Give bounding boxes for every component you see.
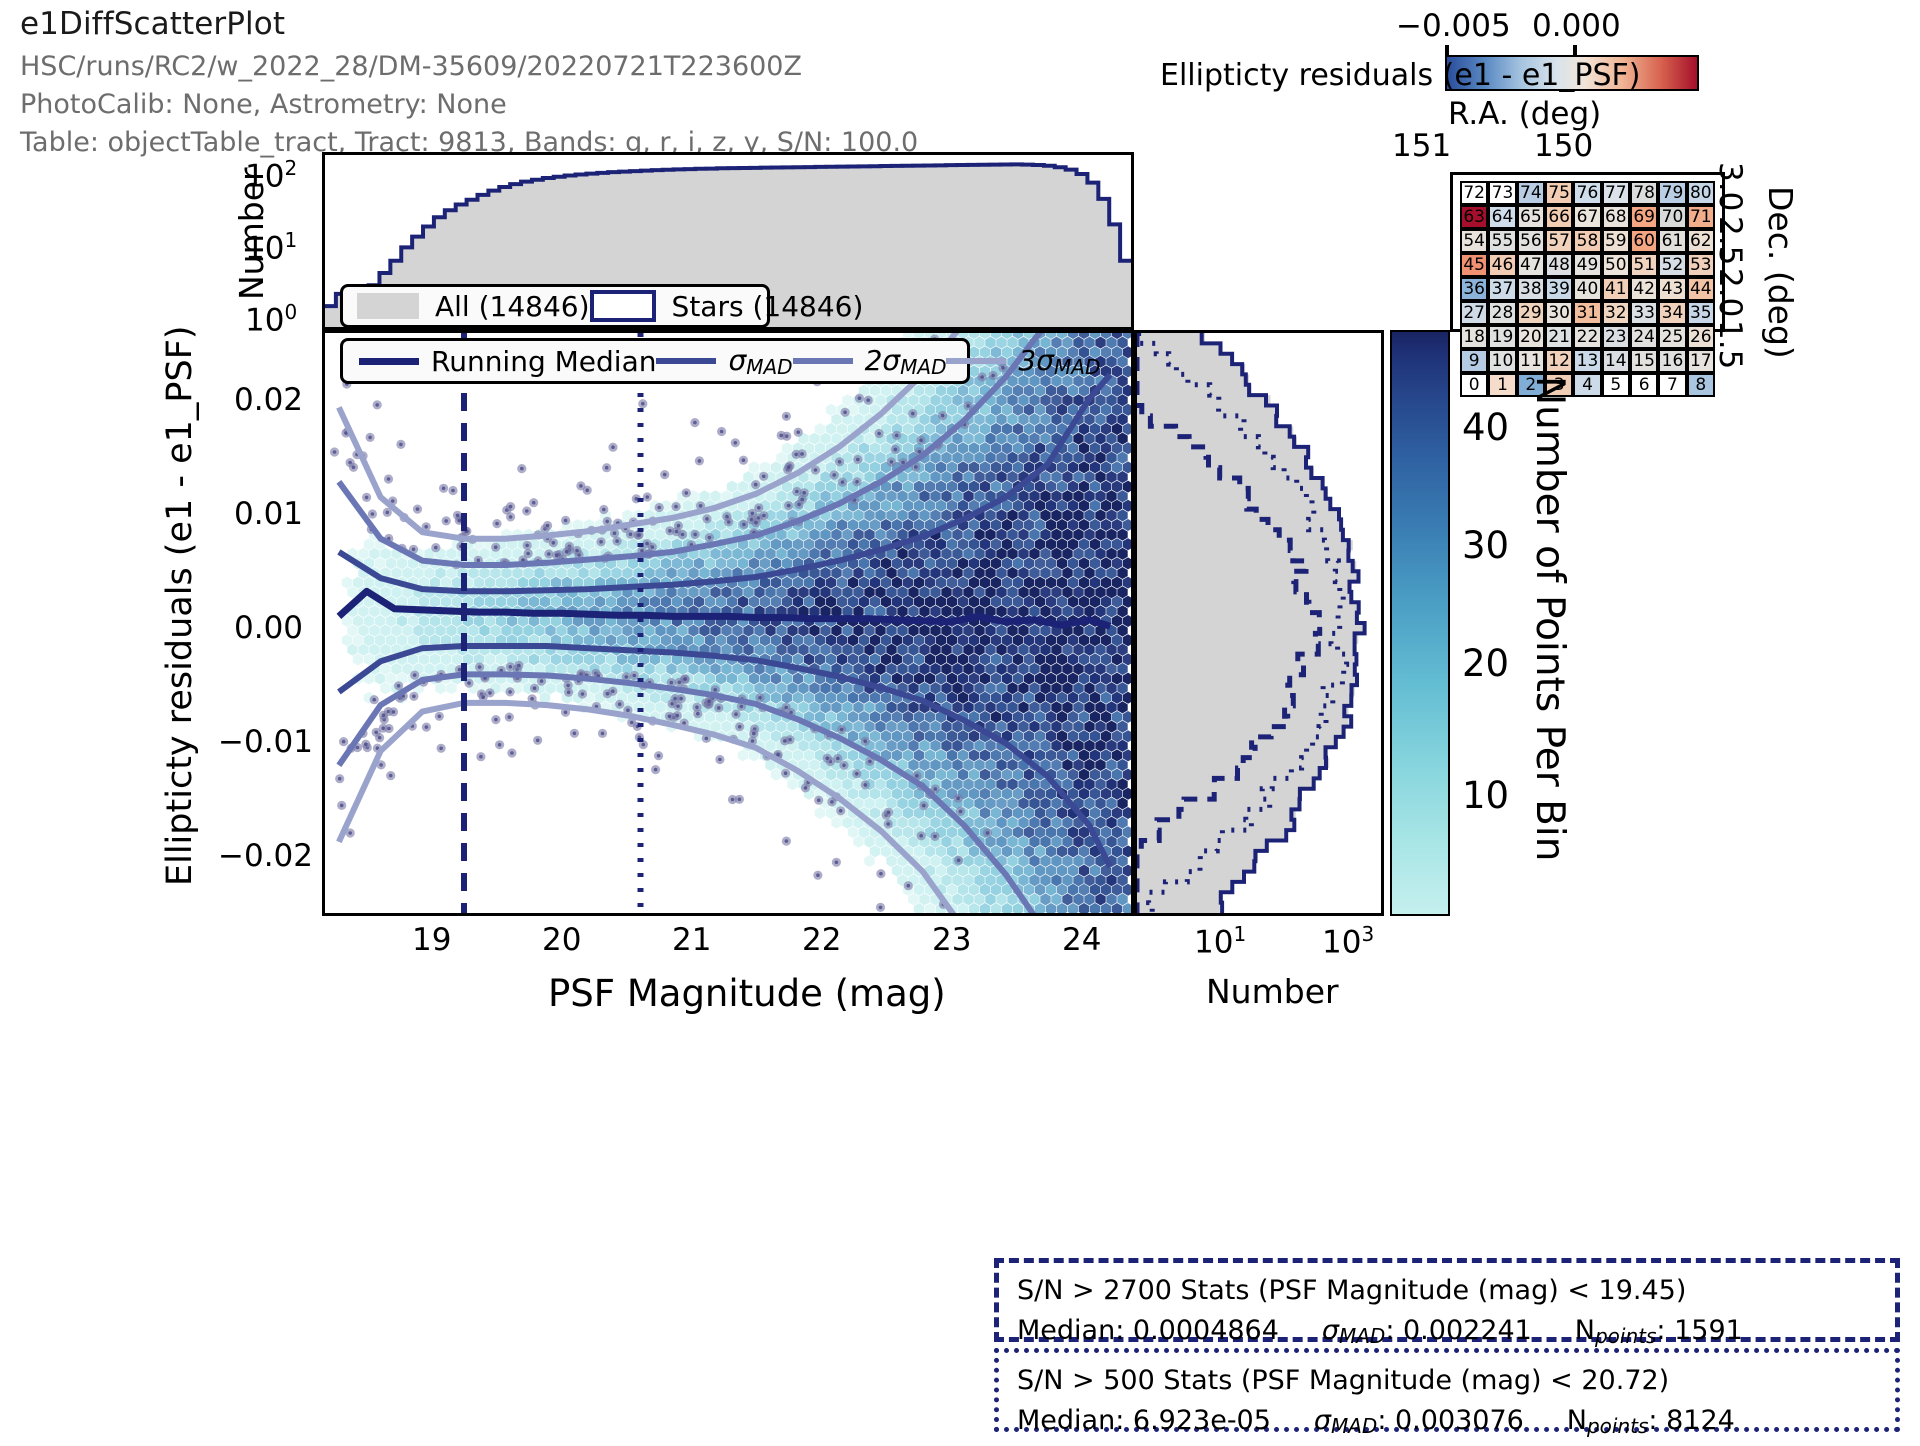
skymap-row: 91011121314151617 xyxy=(1460,349,1715,373)
tophist-ytick-0: 100 xyxy=(245,300,297,338)
skymap-patch-53[interactable]: 53 xyxy=(1687,253,1715,277)
skymap-patch-50[interactable]: 50 xyxy=(1602,253,1630,277)
skymap-row: 363738394041424344 xyxy=(1460,277,1715,301)
main-ytick-1: 0.01 xyxy=(234,496,303,532)
skymap-patch-76[interactable]: 76 xyxy=(1573,181,1601,205)
skymap-patch-55[interactable]: 55 xyxy=(1488,229,1516,253)
skymap-patch-27[interactable]: 27 xyxy=(1460,301,1488,325)
stats-sigma-sub-1: MAD xyxy=(1331,1414,1377,1438)
stats-median-label-1: Median: xyxy=(1017,1405,1124,1436)
skymap-patch-66[interactable]: 66 xyxy=(1545,205,1573,229)
tophist-ytick-2: 102 xyxy=(245,156,297,194)
cbar-label: Number of Points Per Bin xyxy=(1527,376,1572,861)
righthist-xtick-0: 101 xyxy=(1194,922,1246,960)
header-calib-info: PhotoCalib: None, Astrometry: None xyxy=(20,86,507,124)
righthist-xlabel: Number xyxy=(1206,972,1339,1011)
stats-values-sn500: Median: 6.923e-05 σMAD: 0.003076 Npoints… xyxy=(1017,1401,1877,1446)
skymap-patch-69[interactable]: 69 xyxy=(1630,205,1658,229)
main-xtick-22: 22 xyxy=(802,922,841,958)
skymap-patch-70[interactable]: 70 xyxy=(1658,205,1686,229)
skymap-patch-74[interactable]: 74 xyxy=(1517,181,1545,205)
skymap-patch-7[interactable]: 7 xyxy=(1658,373,1686,397)
legend-line-2sigma-mad xyxy=(793,358,853,364)
main-colorbar xyxy=(1390,330,1450,916)
skymap-patch-10[interactable]: 10 xyxy=(1488,349,1516,373)
main-scatter-plot xyxy=(325,333,1131,913)
skymap-patch-47[interactable]: 47 xyxy=(1517,253,1545,277)
skymap-patch-19[interactable]: 19 xyxy=(1488,325,1516,349)
stats-sigma-label-0: σ xyxy=(1322,1315,1339,1346)
tophist-ytick-1: 101 xyxy=(245,228,297,266)
main-ytick-2: 0.00 xyxy=(234,610,303,646)
skymap-patch-48[interactable]: 48 xyxy=(1545,253,1573,277)
skymap-row: 454647484950515253 xyxy=(1460,253,1715,277)
skymap-patch-61[interactable]: 61 xyxy=(1658,229,1686,253)
stats-box-sn500: S/N > 500 Stats (PSF Magnitude (mag) < 2… xyxy=(994,1348,1900,1432)
skymap-patch-52[interactable]: 52 xyxy=(1658,253,1686,277)
stats-title-sn500: S/N > 500 Stats (PSF Magnitude (mag) < 2… xyxy=(1017,1361,1877,1401)
stats-median-label-0: Median: xyxy=(1017,1315,1124,1346)
skymap-patch-29[interactable]: 29 xyxy=(1517,301,1545,325)
skymap-patch-44[interactable]: 44 xyxy=(1687,277,1715,301)
stats-median-value-0: 0.0004864 xyxy=(1133,1315,1279,1346)
skymap-patch-54[interactable]: 54 xyxy=(1460,229,1488,253)
skymap-patch-39[interactable]: 39 xyxy=(1545,277,1573,301)
cbar-tick-20: 20 xyxy=(1462,642,1509,685)
skymap-patch-16[interactable]: 16 xyxy=(1658,349,1686,373)
top-histogram-legend: All (14846) Stars (14846) xyxy=(340,284,770,328)
skymap-patch-33[interactable]: 33 xyxy=(1630,301,1658,325)
skymap-row: 181920212223242526 xyxy=(1460,325,1715,349)
legend-line-3sigma-mad xyxy=(946,358,1006,364)
skymap-ytick-2: 2.5 xyxy=(1712,216,1748,265)
skymap-row: 636465666768697071 xyxy=(1460,205,1715,229)
skymap-patch-71[interactable]: 71 xyxy=(1687,205,1715,229)
skymap-patch-60[interactable]: 60 xyxy=(1630,229,1658,253)
skymap-patch-75[interactable]: 75 xyxy=(1545,181,1573,205)
skymap-patch-56[interactable]: 56 xyxy=(1517,229,1545,253)
right-histogram-panel xyxy=(1134,330,1384,916)
legend-label-3sigma-mad: 3σMAD xyxy=(1018,344,1100,379)
skymap-patch-43[interactable]: 43 xyxy=(1658,277,1686,301)
skymap-patch-6[interactable]: 6 xyxy=(1630,373,1658,397)
skymap-patch-32[interactable]: 32 xyxy=(1602,301,1630,325)
skymap-patch-9[interactable]: 9 xyxy=(1460,349,1488,373)
skymap-patch-73[interactable]: 73 xyxy=(1488,181,1516,205)
cbar-tick-30: 30 xyxy=(1462,524,1509,567)
skymap-xtick-0: 151 xyxy=(1392,128,1451,164)
skymap-cbar-tickmark-1 xyxy=(1573,45,1577,55)
righthist-xtick-1: 103 xyxy=(1322,922,1374,960)
skymap-patch-4[interactable]: 4 xyxy=(1573,373,1601,397)
stats-box-sn2700: S/N > 2700 Stats (PSF Magnitude (mag) < … xyxy=(994,1258,1900,1342)
skymap-ylabel: Dec. (deg) xyxy=(1761,186,1800,359)
main-scatter-panel xyxy=(322,330,1134,916)
stats-npoints-label-0: N xyxy=(1575,1315,1595,1346)
skymap-panel: 7273747576777879806364656667686970715455… xyxy=(1450,172,1725,332)
skymap-patch-12[interactable]: 12 xyxy=(1545,349,1573,373)
header-run-path: HSC/runs/RC2/w_2022_28/DM-35609/20220721… xyxy=(20,48,802,86)
skymap-patch-30[interactable]: 30 xyxy=(1545,301,1573,325)
skymap-patch-26[interactable]: 26 xyxy=(1687,325,1715,349)
stats-npoints-sub-0: points xyxy=(1595,1324,1656,1348)
skymap-patch-13[interactable]: 13 xyxy=(1573,349,1601,373)
skymap-patch-24[interactable]: 24 xyxy=(1630,325,1658,349)
skymap-xlabel: R.A. (deg) xyxy=(1448,96,1601,132)
stats-title-sn2700: S/N > 2700 Stats (PSF Magnitude (mag) < … xyxy=(1017,1271,1877,1311)
skymap-ytick-0: 1.5 xyxy=(1712,320,1748,369)
stats-sigma-value-1: 0.003076 xyxy=(1395,1405,1524,1436)
main-xtick-24: 24 xyxy=(1062,922,1101,958)
skymap-patch-35[interactable]: 35 xyxy=(1687,301,1715,325)
skymap-ytick-1: 2.0 xyxy=(1712,268,1748,317)
skymap-patch-72[interactable]: 72 xyxy=(1460,181,1488,205)
skymap-patch-65[interactable]: 65 xyxy=(1517,205,1545,229)
skymap-patch-18[interactable]: 18 xyxy=(1460,325,1488,349)
main-legend: Running Median σMAD 2σMAD 3σMAD xyxy=(340,338,970,384)
stats-sigma-label-1: σ xyxy=(1314,1405,1331,1436)
skymap-row: 545556575859606162 xyxy=(1460,229,1715,253)
legend-swatch-stars xyxy=(590,290,656,322)
stats-npoints-label-1: N xyxy=(1567,1405,1587,1436)
skymap-patch-8[interactable]: 8 xyxy=(1687,373,1715,397)
skymap-patch-45[interactable]: 45 xyxy=(1460,253,1488,277)
skymap-patch-67[interactable]: 67 xyxy=(1573,205,1601,229)
skymap-row: 012345678 xyxy=(1460,373,1715,397)
skymap-patch-51[interactable]: 51 xyxy=(1630,253,1658,277)
main-ytick-4: −0.02 xyxy=(218,838,313,874)
legend-item-all: All (14846) xyxy=(357,290,590,323)
skymap-patch-58[interactable]: 58 xyxy=(1573,229,1601,253)
skymap-row: 272829303132333435 xyxy=(1460,301,1715,325)
stats-sigma-sub-0: MAD xyxy=(1339,1324,1385,1348)
legend-swatch-all xyxy=(357,293,419,319)
skymap-grid: 7273747576777879806364656667686970715455… xyxy=(1460,181,1715,323)
stats-median-value-1: 6.923e-05 xyxy=(1133,1405,1271,1436)
skymap-patch-28[interactable]: 28 xyxy=(1488,301,1516,325)
stats-sigma-value-0: 0.002241 xyxy=(1403,1315,1532,1346)
skymap-patch-59[interactable]: 59 xyxy=(1602,229,1630,253)
legend-label-stars: Stars (14846) xyxy=(672,290,864,323)
skymap-cbar-label: Ellipticty residuals (e1 - e1_PSF) xyxy=(1160,58,1640,93)
skymap-patch-25[interactable]: 25 xyxy=(1658,325,1686,349)
skymap-patch-63[interactable]: 63 xyxy=(1460,205,1488,229)
skymap-patch-31[interactable]: 31 xyxy=(1573,301,1601,325)
skymap-xtick-1: 150 xyxy=(1534,128,1593,164)
legend-line-sigma-mad xyxy=(656,358,716,364)
skymap-patch-5[interactable]: 5 xyxy=(1602,373,1630,397)
skymap-patch-22[interactable]: 22 xyxy=(1573,325,1601,349)
right-histogram-plot xyxy=(1137,333,1381,913)
skymap-patch-11[interactable]: 11 xyxy=(1517,349,1545,373)
legend-label-all: All (14846) xyxy=(435,290,590,323)
main-xtick-19: 19 xyxy=(412,922,451,958)
skymap-cbar-tick-0: −0.005 xyxy=(1396,8,1511,44)
main-xlabel: PSF Magnitude (mag) xyxy=(548,972,946,1015)
skymap-patch-14[interactable]: 14 xyxy=(1602,349,1630,373)
skymap-patch-78[interactable]: 78 xyxy=(1630,181,1658,205)
legend-item-running-median: Running Median xyxy=(359,345,656,378)
legend-item-stars: Stars (14846) xyxy=(590,290,864,323)
stats-npoints-sub-1: points xyxy=(1587,1414,1648,1438)
skymap-patch-64[interactable]: 64 xyxy=(1488,205,1516,229)
skymap-patch-36[interactable]: 36 xyxy=(1460,277,1488,301)
skymap-patch-0[interactable]: 0 xyxy=(1460,373,1488,397)
skymap-patch-21[interactable]: 21 xyxy=(1545,325,1573,349)
skymap-cbar-tick-1: 0.000 xyxy=(1532,8,1621,44)
skymap-patch-46[interactable]: 46 xyxy=(1488,253,1516,277)
main-xtick-21: 21 xyxy=(672,922,711,958)
skymap-patch-17[interactable]: 17 xyxy=(1687,349,1715,373)
skymap-cbar-tickmark-0 xyxy=(1445,45,1449,55)
skymap-ytick-3: 3.0 xyxy=(1712,162,1748,211)
skymap-patch-38[interactable]: 38 xyxy=(1517,277,1545,301)
skymap-patch-37[interactable]: 37 xyxy=(1488,277,1516,301)
skymap-patch-80[interactable]: 80 xyxy=(1687,181,1715,205)
main-xtick-20: 20 xyxy=(542,922,581,958)
main-ylabel: Ellipticty residuals (e1 - e1_PSF) xyxy=(160,325,200,886)
main-ytick-0: 0.02 xyxy=(234,382,303,418)
skymap-patch-77[interactable]: 77 xyxy=(1602,181,1630,205)
skymap-patch-62[interactable]: 62 xyxy=(1687,229,1715,253)
skymap-patch-79[interactable]: 79 xyxy=(1658,181,1686,205)
main-ytick-3: −0.01 xyxy=(218,724,313,760)
legend-line-running-median xyxy=(359,358,419,365)
legend-label-running-median: Running Median xyxy=(431,345,656,378)
legend-item-3sigma-mad: 3σMAD xyxy=(946,344,1100,379)
skymap-patch-1[interactable]: 1 xyxy=(1488,373,1516,397)
skymap-patch-41[interactable]: 41 xyxy=(1602,277,1630,301)
cbar-tick-40: 40 xyxy=(1462,406,1509,449)
skymap-patch-34[interactable]: 34 xyxy=(1658,301,1686,325)
stats-npoints-value-0: 1591 xyxy=(1674,1315,1743,1346)
skymap-patch-49[interactable]: 49 xyxy=(1573,253,1601,277)
skymap-patch-20[interactable]: 20 xyxy=(1517,325,1545,349)
legend-label-2sigma-mad: 2σMAD xyxy=(865,344,947,379)
skymap-patch-40[interactable]: 40 xyxy=(1573,277,1601,301)
skymap-patch-42[interactable]: 42 xyxy=(1630,277,1658,301)
skymap-patch-68[interactable]: 68 xyxy=(1602,205,1630,229)
legend-label-sigma-mad: σMAD xyxy=(728,344,792,379)
main-xtick-23: 23 xyxy=(932,922,971,958)
stats-npoints-value-1: 8124 xyxy=(1666,1405,1735,1436)
skymap-patch-23[interactable]: 23 xyxy=(1602,325,1630,349)
skymap-patch-57[interactable]: 57 xyxy=(1545,229,1573,253)
page-title: e1DiffScatterPlot xyxy=(20,6,285,42)
legend-item-2sigma-mad: 2σMAD xyxy=(793,344,947,379)
skymap-row: 727374757677787980 xyxy=(1460,181,1715,205)
cbar-tick-10: 10 xyxy=(1462,774,1509,817)
legend-item-sigma-mad: σMAD xyxy=(656,344,792,379)
skymap-patch-15[interactable]: 15 xyxy=(1630,349,1658,373)
